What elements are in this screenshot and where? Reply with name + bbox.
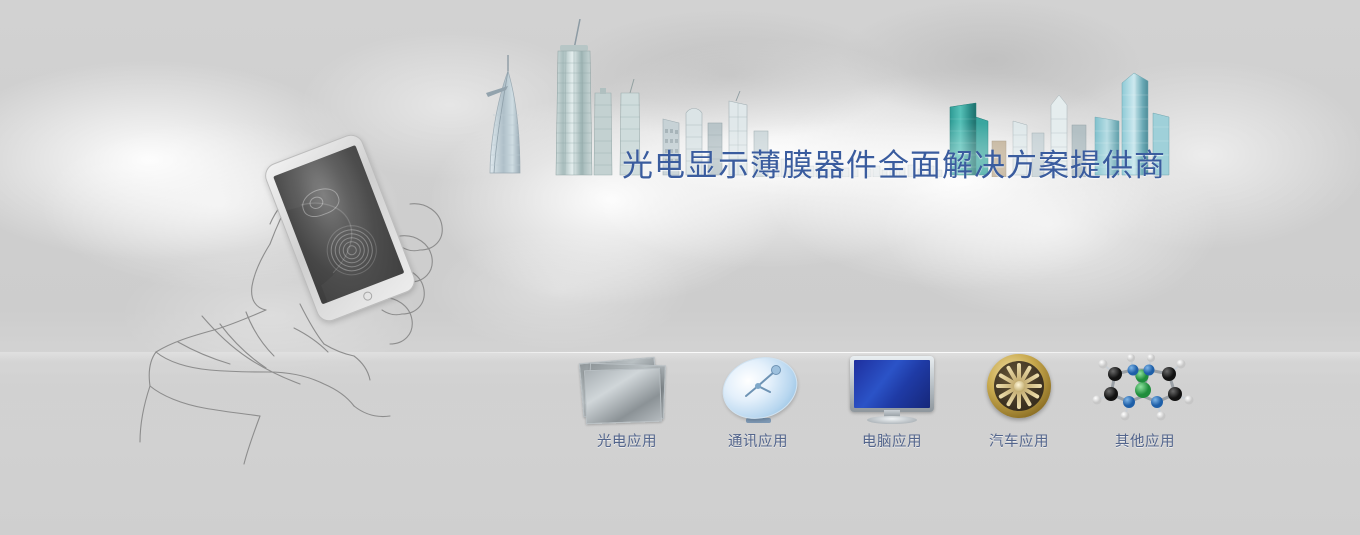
application-label-1: 通讯应用 xyxy=(683,430,833,451)
application-item-4[interactable]: 其他应用 xyxy=(1070,352,1220,451)
application-item-0[interactable]: 光电应用 xyxy=(552,352,702,451)
molecule-icon xyxy=(1085,352,1205,424)
phone-home-button xyxy=(361,290,373,302)
page-title: 光电显示薄膜器件全面解决方案提供商 xyxy=(622,140,1166,185)
monitor-screen xyxy=(854,360,930,408)
application-label-4: 其他应用 xyxy=(1070,430,1220,451)
application-label-0: 光电应用 xyxy=(552,430,702,451)
wheel-inner xyxy=(994,361,1044,411)
application-icon-row: 光电应用 通讯应用 xyxy=(0,352,1360,535)
molecule-model-icon xyxy=(1085,352,1205,424)
film-stack-icon xyxy=(567,352,687,424)
monitor-icon xyxy=(832,352,952,424)
satellite-dish-icon xyxy=(698,352,818,424)
car-wheel-icon xyxy=(959,352,1079,424)
dish-feed-icon xyxy=(698,352,818,424)
mid-tower-icon xyxy=(592,85,614,177)
application-item-1[interactable]: 通讯应用 xyxy=(683,352,833,451)
banner-stage: 光电显示薄膜器件全面解决方案提供商 xyxy=(0,0,1360,535)
sail-tower-icon xyxy=(480,55,526,177)
